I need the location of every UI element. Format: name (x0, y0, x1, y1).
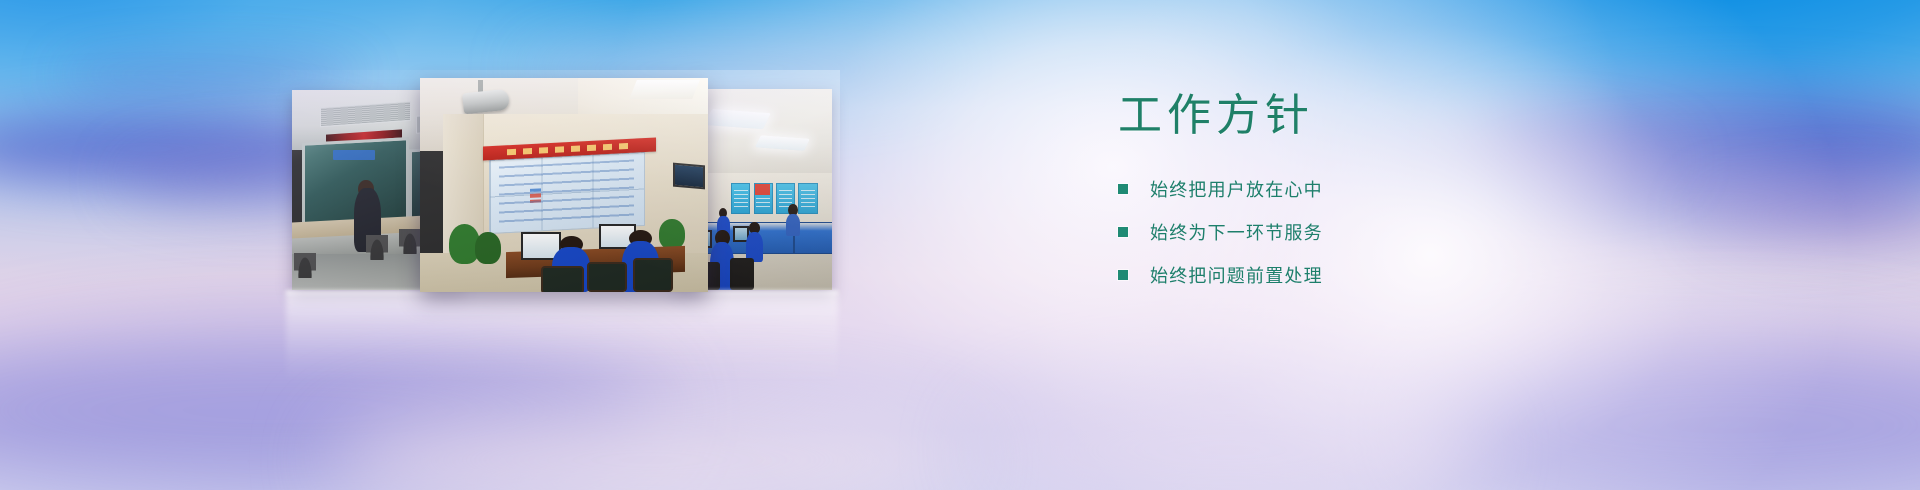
info-board-header-red (755, 184, 769, 194)
list-item: 始终为下一环节服务 (1118, 219, 1638, 245)
list-item-label: 始终把用户放在心中 (1150, 176, 1323, 202)
office-chair (633, 258, 673, 292)
banner-text-panel: 工作方针 始终把用户放在心中 始终为下一环节服务 始终把问题前置处理 (1118, 90, 1638, 305)
photo-dispatch-center-scene (420, 78, 708, 292)
counter-stool (399, 222, 421, 254)
policy-bullet-list: 始终把用户放在心中 始终为下一环节服务 始终把问题前置处理 (1118, 176, 1638, 288)
video-wall-tag (530, 188, 541, 192)
square-bullet-icon (1118, 270, 1128, 280)
list-item-label: 始终为下一环节服务 (1150, 219, 1323, 245)
collage-reflection (286, 292, 838, 384)
list-item: 始终把用户放在心中 (1118, 176, 1638, 202)
skylight (629, 80, 700, 99)
office-chair (587, 262, 627, 292)
info-board (731, 183, 750, 213)
counter-stool (294, 246, 316, 278)
square-bullet-icon (1118, 184, 1128, 194)
office-chair (730, 258, 754, 290)
photo-dispatch-center[interactable] (420, 78, 708, 292)
office-chair (541, 266, 584, 292)
list-item-label: 始终把问题前置处理 (1150, 262, 1323, 288)
hero-banner: 工作方针 始终把用户放在心中 始终为下一环节服务 始终把问题前置处理 (0, 0, 1920, 490)
video-wall-tag (530, 199, 541, 203)
list-item: 始终把问题前置处理 (1118, 262, 1638, 288)
potted-plant (475, 232, 501, 264)
square-bullet-icon (1118, 227, 1128, 237)
counter-number-sign (333, 150, 374, 160)
video-wall-display (489, 151, 645, 234)
counter-stool (366, 228, 388, 260)
potted-plant (659, 219, 685, 249)
info-board (798, 183, 817, 213)
page-title: 工作方针 (1118, 90, 1638, 142)
video-wall-tag (530, 194, 541, 198)
staff-member (786, 214, 800, 236)
side-monitor (673, 162, 705, 188)
